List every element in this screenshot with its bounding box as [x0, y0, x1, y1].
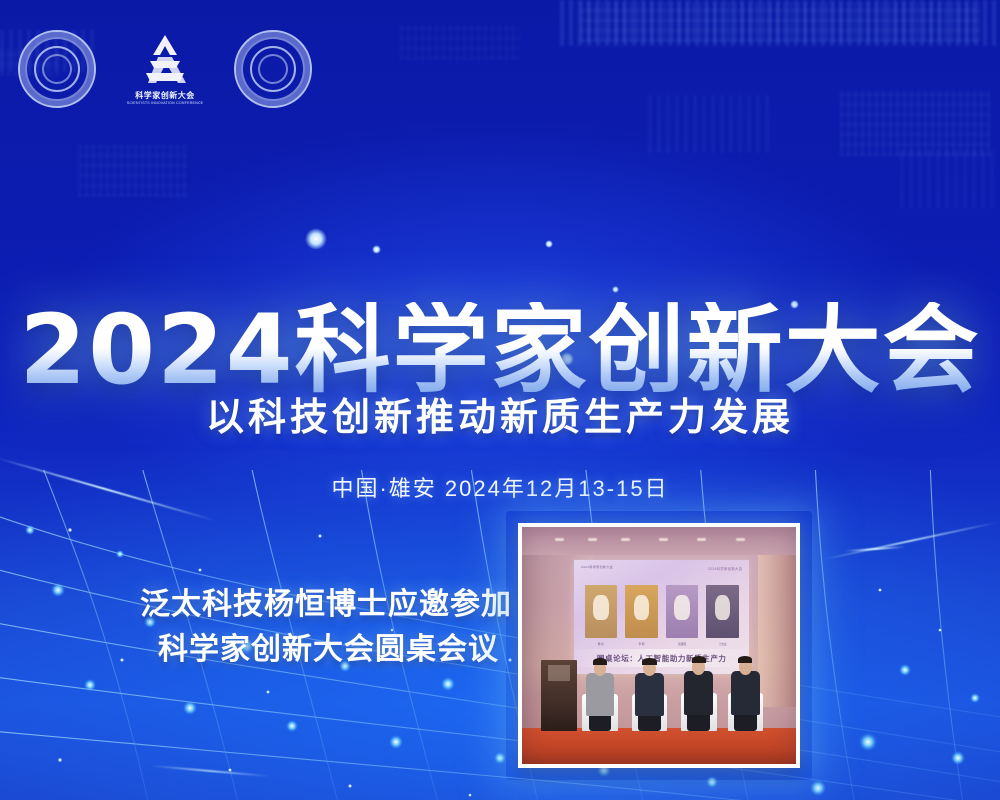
- conference-poster: 科学家创新大会 SCIENTISTS INNOVATION CONFERENCE…: [0, 0, 1000, 800]
- background-data-texture-mid-left: [78, 145, 188, 197]
- conference-wordmark: 科学家创新大会: [135, 90, 195, 101]
- conference-tagline: SCIENTISTS INNOVATION CONFERENCE: [127, 101, 204, 105]
- event-dateline: 中国·雄安 2024年12月13-15日: [0, 471, 1000, 503]
- background-data-texture-center: [400, 24, 520, 60]
- sparkle-icon: [612, 286, 619, 293]
- logo-conference: 科学家创新大会 SCIENTISTS INNOVATION CONFERENCE: [124, 33, 206, 105]
- photo-vignette: [522, 527, 796, 764]
- light-streak: [150, 765, 270, 777]
- subtitle: 以科技创新推动新质生产力发展: [0, 386, 1000, 441]
- xiongan-emblem-icon: [234, 30, 312, 108]
- caption-line-2: 科学家创新大会圆桌会议: [140, 627, 520, 672]
- light-streak: [845, 546, 905, 552]
- logo-cast: [18, 30, 96, 108]
- sparkle-icon: [372, 245, 381, 254]
- sparkle-icon: [545, 240, 553, 248]
- background-data-texture-top-right: [560, 0, 1000, 46]
- background-data-texture-mid-right: [648, 95, 773, 153]
- sparkle-icon: [305, 228, 327, 250]
- caption-line-1: 泛太科技杨恒博士应邀参加: [140, 588, 512, 621]
- logo-xiongan: [234, 30, 312, 108]
- cast-emblem-icon: [18, 30, 96, 108]
- roundtable-panel-photo[interactable]: 2024科学家创新大会 2024科学家创新大会 杨 恒 李 明 张建国 王志远: [518, 523, 800, 768]
- background-data-texture-right-block: [840, 90, 990, 156]
- photo-inner: 2024科学家创新大会 2024科学家创新大会 杨 恒 李 明 张建国 王志远: [522, 527, 796, 764]
- background-data-texture-right-tall: [900, 150, 995, 208]
- logo-bar: 科学家创新大会 SCIENTISTS INNOVATION CONFERENCE: [18, 30, 312, 108]
- caption-block: 泛太科技杨恒博士应邀参加 科学家创新大会圆桌会议: [140, 582, 520, 672]
- background-data-texture-upper-right: [580, 2, 980, 42]
- light-streak: [822, 521, 998, 560]
- page-title: 2024科学家创新大会: [0, 302, 1000, 398]
- triangle-mark-icon: [136, 33, 194, 85]
